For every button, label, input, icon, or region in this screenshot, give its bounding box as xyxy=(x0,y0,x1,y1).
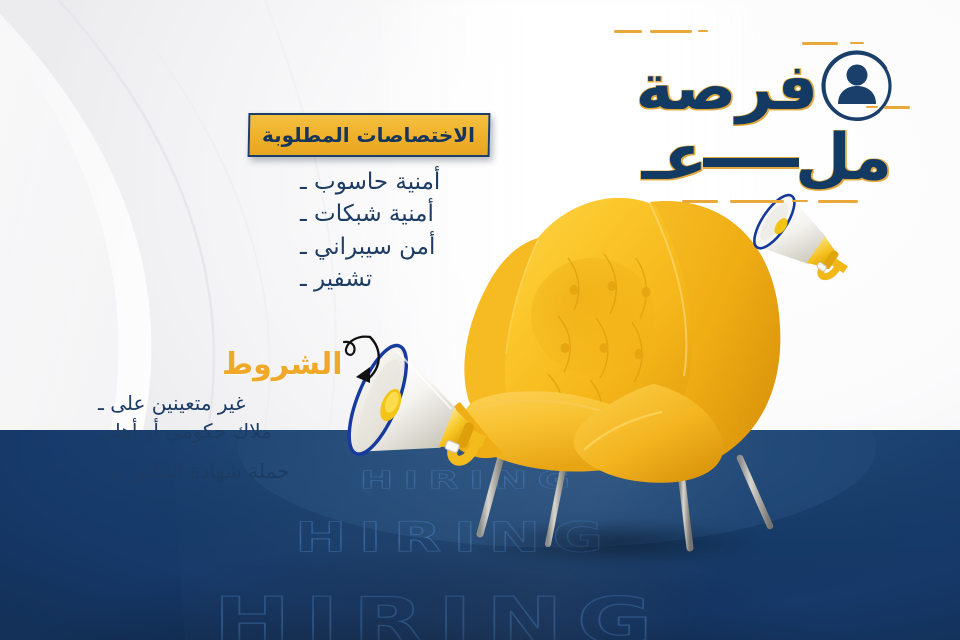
conditions-title: الشروط xyxy=(222,347,343,382)
decorative-dash xyxy=(614,30,642,33)
decorative-dash xyxy=(730,200,784,203)
person-in-circle-icon xyxy=(814,42,900,128)
list-item: حملة شهادة الدكتوراه ـ xyxy=(98,458,348,486)
list-item: تشفير ـ xyxy=(300,263,500,295)
poster-title-line-2: ملعـ xyxy=(642,126,892,190)
decorative-dash xyxy=(650,30,692,33)
poster-header: فرصة ملعـ xyxy=(574,22,904,212)
specializations-list: أمنية حاسوب ـ أمنية شبكات ـ أمن سيبراني … xyxy=(300,166,500,296)
list-item: أمن سيبراني ـ xyxy=(300,231,500,263)
decorative-dash xyxy=(818,200,858,203)
banner-label: الاختصاصات المطلوبة xyxy=(262,123,475,147)
poster-title-line-1: فرصة xyxy=(636,56,818,120)
list-item: ملاك حكومي أو أهلي xyxy=(98,418,348,446)
decorative-dash xyxy=(792,200,808,202)
decorative-dash xyxy=(884,106,910,109)
kashida-stroke xyxy=(703,158,799,167)
title-part-start: عـ xyxy=(642,121,708,195)
list-item: غير متعينين على ـ xyxy=(98,390,348,418)
decorative-dash xyxy=(698,30,708,32)
required-specializations-banner: الاختصاصات المطلوبة xyxy=(248,113,491,157)
job-opportunity-poster: HIRING HIRING HIRING HIRING xyxy=(0,0,960,640)
conditions-list: غير متعينين على ـ ملاك حكومي أو أهلي حمل… xyxy=(98,390,348,486)
decorative-dash xyxy=(866,106,878,108)
decorative-dash xyxy=(682,200,718,203)
list-item: أمنية شبكات ـ xyxy=(300,198,500,230)
list-item: أمنية حاسوب ـ xyxy=(300,166,500,198)
title-part-end: مل xyxy=(795,121,892,195)
